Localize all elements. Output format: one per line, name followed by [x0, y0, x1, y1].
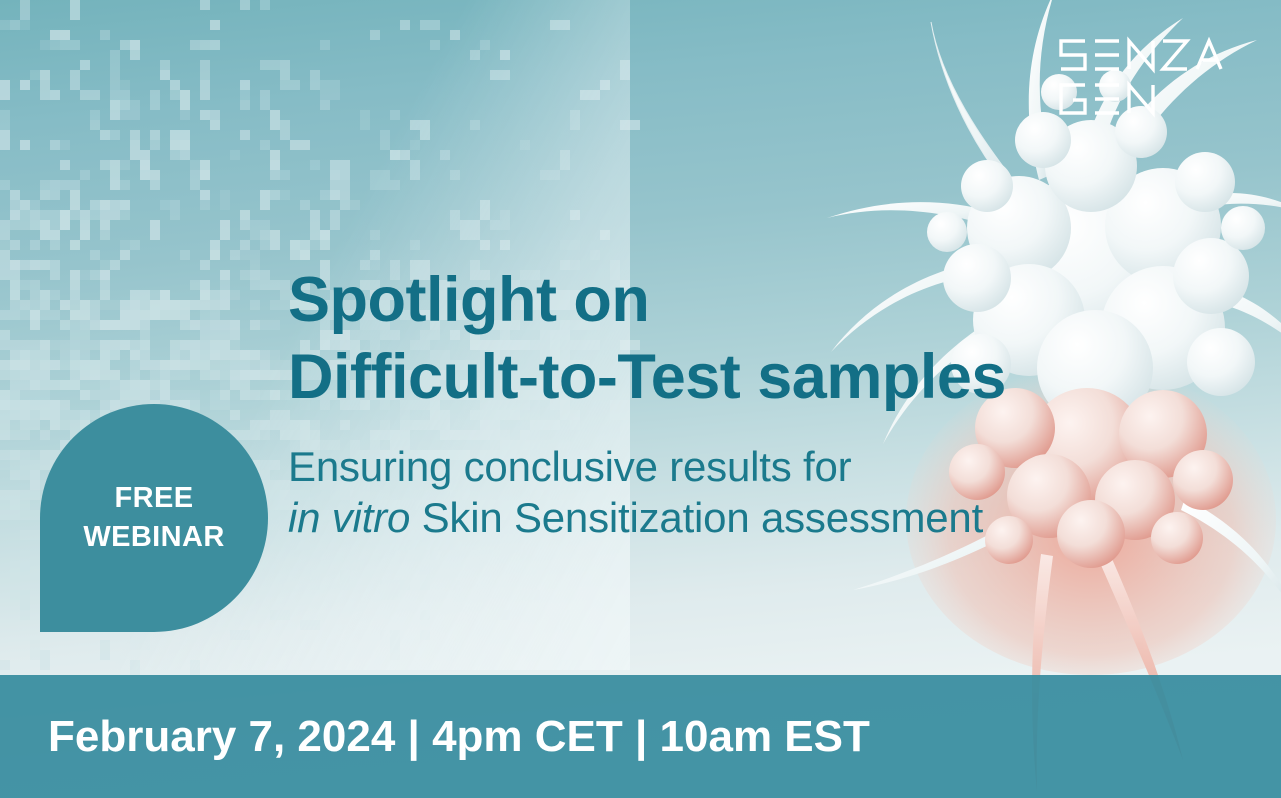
event-date-text: February 7, 2024 | 4pm CET | 10am EST [48, 712, 870, 762]
subtitle-line-1: Ensuring conclusive results for [288, 441, 1028, 492]
page-subtitle: Ensuring conclusive results for in vitro… [288, 441, 1028, 543]
event-date-bar: February 7, 2024 | 4pm CET | 10am EST [0, 675, 1281, 798]
subtitle-italic-term: in vitro [288, 494, 410, 541]
free-webinar-badge[interactable]: FREE WEBINAR [40, 404, 268, 632]
subtitle-line-2: in vitro Skin Sensitization assessment [288, 492, 1028, 543]
subtitle-line-2-rest: Skin Sensitization assessment [410, 494, 983, 541]
badge-line-webinar: WEBINAR [83, 518, 224, 557]
webinar-promo-banner: FREE WEBINAR Spotlight on Difficult-to-T… [0, 0, 1281, 798]
senzagen-logo[interactable] [1055, 36, 1247, 118]
headline-block: Spotlight on Difficult-to-Test samples E… [288, 262, 1028, 543]
page-title: Spotlight on Difficult-to-Test samples [288, 262, 1028, 417]
badge-line-free: FREE [115, 479, 194, 518]
